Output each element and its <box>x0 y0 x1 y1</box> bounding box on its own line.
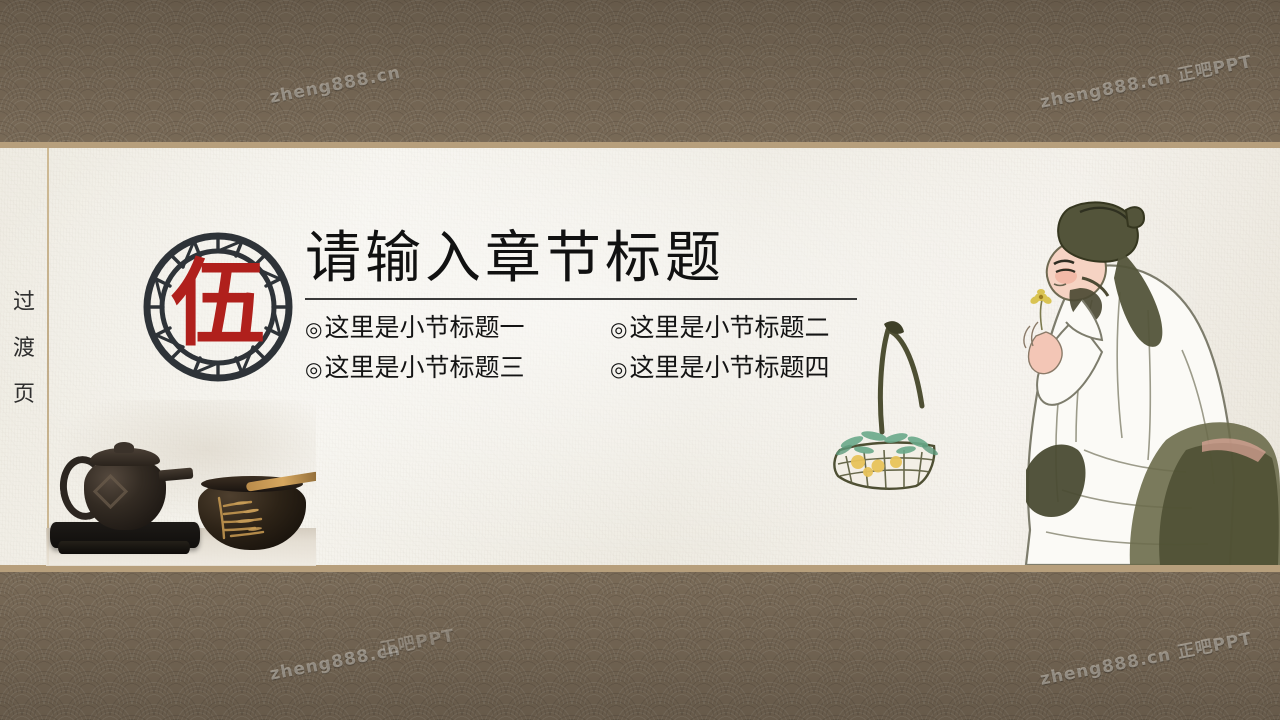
scholar-ink-painting <box>830 150 1280 565</box>
subtitle-grid: ◎ 这里是小节标题一 ◎ 这里是小节标题二 ◎ 这里是小节标题三 ◎ 这里是小节… <box>305 312 865 384</box>
bullet-icon: ◎ <box>305 357 322 382</box>
section-title[interactable]: 请输入章节标题 <box>305 228 865 296</box>
chapter-number-emblem: 伍 <box>143 232 293 382</box>
subtitle-text-2: 这里是小节标题二 <box>629 312 829 343</box>
side-label-char-2: 渡 <box>2 326 46 372</box>
subtitle-text-4: 这里是小节标题四 <box>629 352 829 383</box>
teapot-stand-shadow <box>58 541 190 554</box>
emblem-number-text: 伍 <box>143 232 293 382</box>
bamboo-painting-motif <box>211 494 275 542</box>
teapot-still-life-image <box>46 400 316 566</box>
subtitle-item-3[interactable]: ◎ 这里是小节标题三 <box>305 352 610 383</box>
subtitle-text-1: 这里是小节标题一 <box>324 312 524 343</box>
held-flower <box>1029 289 1053 330</box>
side-label-char-1: 过 <box>2 280 46 326</box>
bullet-icon: ◎ <box>610 317 627 342</box>
title-underline <box>305 298 857 300</box>
hat-wing <box>1126 207 1144 227</box>
subtitle-text-3: 这里是小节标题三 <box>324 352 524 383</box>
bullet-icon: ◎ <box>305 317 322 342</box>
teapot-knob <box>114 442 134 453</box>
bullet-icon: ◎ <box>610 357 627 382</box>
title-block: 请输入章节标题 ◎ 这里是小节标题一 ◎ 这里是小节标题二 ◎ 这里是小节标题三… <box>305 228 865 383</box>
subtitle-item-4[interactable]: ◎ 这里是小节标题四 <box>610 352 865 383</box>
presentation-slide: 过 渡 页 <box>0 0 1280 720</box>
subtitle-item-2[interactable]: ◎ 这里是小节标题二 <box>610 312 865 343</box>
subtitle-item-1[interactable]: ◎ 这里是小节标题一 <box>305 312 610 343</box>
side-label-transition-page: 过 渡 页 <box>2 280 46 418</box>
side-label-char-3: 页 <box>2 372 46 418</box>
